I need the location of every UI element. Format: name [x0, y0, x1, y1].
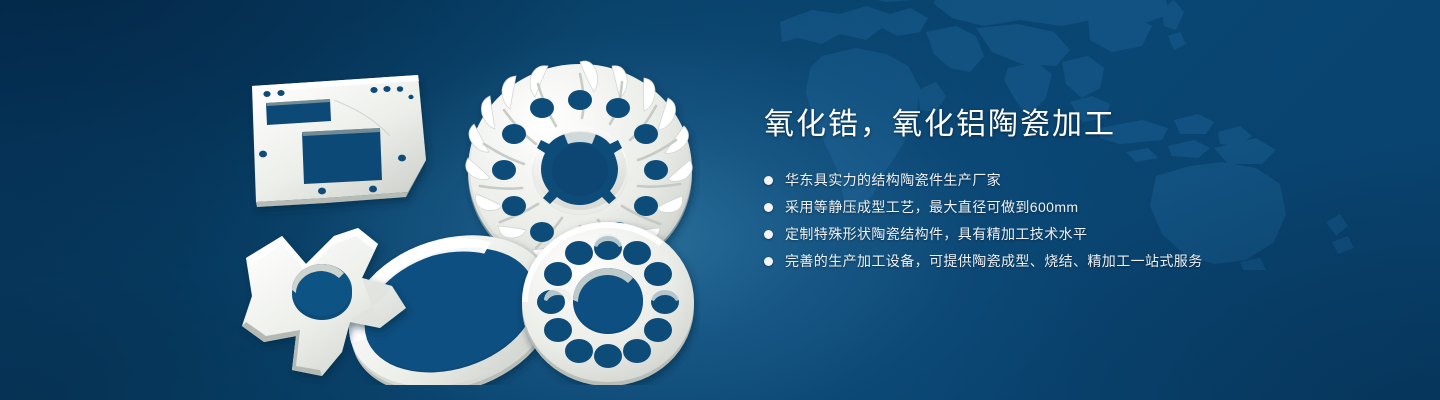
- banner-copy: 氧化锆，氧化铝陶瓷加工 华东具实力的结构陶瓷件生产厂家 采用等静压成型工艺，最大…: [764, 104, 1364, 276]
- bullet-dot-icon: [764, 230, 773, 239]
- ceramic-perforated-disc: [522, 222, 694, 385]
- feature-text: 定制特殊形状陶瓷结构件，具有精加工技术水平: [785, 224, 1087, 244]
- feature-text: 采用等静压成型工艺，最大直径可做到600mm: [785, 197, 1078, 217]
- feature-list: 华东具实力的结构陶瓷件生产厂家 采用等静压成型工艺，最大直径可做到600mm 定…: [764, 168, 1364, 273]
- bullet-dot-icon: [764, 176, 773, 185]
- feature-text: 完善的生产加工设备，可提供陶瓷成型、烧结、精加工一站式服务: [785, 251, 1203, 271]
- feature-item: 华东具实力的结构陶瓷件生产厂家: [764, 168, 1364, 192]
- hero-banner: 氧化锆，氧化铝陶瓷加工 华东具实力的结构陶瓷件生产厂家 采用等静压成型工艺，最大…: [0, 0, 1440, 400]
- feature-item: 定制特殊形状陶瓷结构件，具有精加工技术水平: [764, 222, 1364, 246]
- ceramic-mounting-plate: [252, 75, 426, 207]
- feature-item: 采用等静压成型工艺，最大直径可做到600mm: [764, 195, 1364, 219]
- bullet-dot-icon: [764, 203, 773, 212]
- bullet-dot-icon: [764, 257, 773, 266]
- feature-text: 华东具实力的结构陶瓷件生产厂家: [785, 170, 1001, 190]
- ceramic-products-image: [230, 40, 700, 385]
- feature-item: 完善的生产加工设备，可提供陶瓷成型、烧结、精加工一站式服务: [764, 249, 1364, 273]
- banner-headline: 氧化锆，氧化铝陶瓷加工: [764, 104, 1364, 146]
